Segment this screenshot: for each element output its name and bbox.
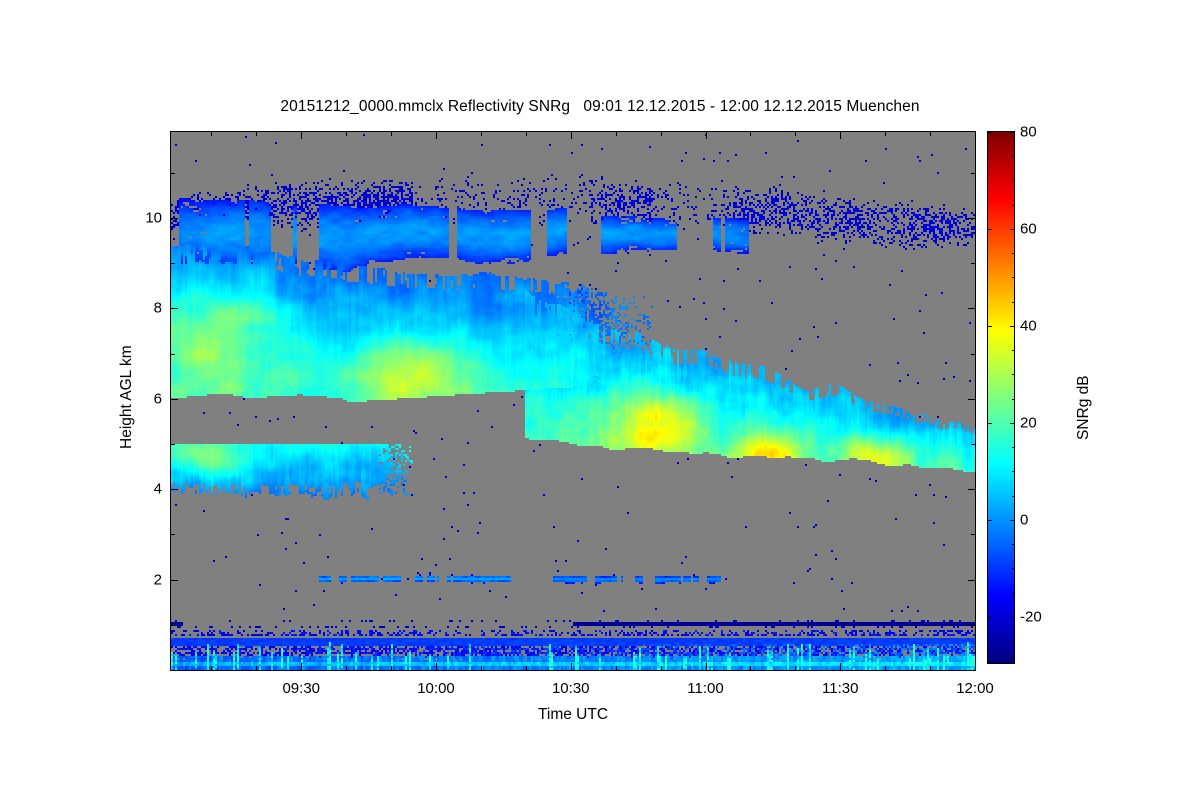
x-tick-minor [346,666,347,671]
y-tick-label: 8 [122,300,162,317]
y-tick-minor-right [971,534,976,535]
colorbar-tick-minor [1012,205,1015,206]
x-tick-minor [661,666,662,671]
y-tick-label: 2 [122,571,162,588]
y-tick-minor [170,354,175,355]
y-tick-minor [170,444,175,445]
colorbar-tick-minor [1012,568,1015,569]
colorbar-tick-minor [1012,471,1015,472]
reflectivity-field [171,132,975,670]
plot-title: 20151212_0000.mmclx Reflectivity SNRg 09… [0,98,1200,116]
x-tick-major-top [571,131,572,139]
x-tick-minor [885,666,886,671]
colorbar-tick [1010,423,1015,424]
y-tick-minor [170,263,175,264]
y-tick-minor-right [971,354,976,355]
colorbar-tick [1010,132,1015,133]
colorbar-tick-minor [1012,302,1015,303]
colorbar-tick-minor [1012,374,1015,375]
colorbar-tick-minor [1012,447,1015,448]
y-tick-minor-right [971,263,976,264]
colorbar-gradient [988,132,1014,663]
x-tick-major [840,663,841,671]
x-tick-major-top [436,131,437,139]
x-tick-major [436,663,437,671]
x-tick-major-top [975,131,976,139]
y-tick-minor [170,625,175,626]
colorbar-tick-minor [1012,277,1015,278]
colorbar-tick-label: 0 [1020,511,1028,528]
colorbar-tick-minor [1012,641,1015,642]
x-axis-title: Time UTC [473,706,673,724]
colorbar-tick-label: 60 [1020,220,1037,237]
colorbar-tick-label: 40 [1020,317,1037,334]
x-tick-minor [795,666,796,671]
colorbar-tick-left [987,520,992,521]
y-tick-minor [170,173,175,174]
x-tick-major [301,663,302,671]
x-tick-major-top [706,131,707,139]
x-tick-minor-top [750,131,751,136]
colorbar-tick [1010,229,1015,230]
y-tick-major [170,489,178,490]
colorbar-tick-minor [1012,496,1015,497]
x-tick-minor [616,666,617,671]
y-tick-label: 4 [122,481,162,498]
x-tick-minor-top [616,131,617,136]
x-tick-minor [526,666,527,671]
x-tick-major [571,663,572,671]
x-tick-minor [256,666,257,671]
x-tick-minor-top [481,131,482,136]
colorbar-tick [1010,520,1015,521]
x-tick-minor-top [661,131,662,136]
x-tick-minor-top [885,131,886,136]
x-tick-minor-top [795,131,796,136]
figure-canvas: 20151212_0000.mmclx Reflectivity SNRg 09… [0,0,1200,800]
x-tick-major-top [840,131,841,139]
y-tick-minor [170,534,175,535]
colorbar-tick-minor [1012,253,1015,254]
x-tick-minor-top [930,131,931,136]
colorbar-tick-minor [1012,399,1015,400]
y-tick-label: 10 [122,209,162,226]
colorbar-tick [1010,326,1015,327]
x-tick-minor [750,666,751,671]
x-tick-label: 10:30 [531,680,611,697]
colorbar-tick-minor [1012,350,1015,351]
colorbar-tick-label: 20 [1020,414,1037,431]
y-tick-major [170,218,178,219]
y-tick-major-right [968,218,976,219]
y-tick-major [170,308,178,309]
colorbar-tick-left [987,229,992,230]
x-tick-minor-top [211,131,212,136]
x-tick-minor-top [256,131,257,136]
x-tick-minor [481,666,482,671]
colorbar-tick-minor [1012,180,1015,181]
colorbar-tick-minor [1012,156,1015,157]
x-tick-label: 11:00 [666,680,746,697]
colorbar-tick-label: 80 [1020,124,1037,141]
colorbar-title: SNRg dB [1075,375,1093,440]
x-tick-minor [930,666,931,671]
colorbar-tick-left [987,132,992,133]
colorbar [987,131,1015,664]
x-tick-label: 11:30 [800,680,880,697]
x-tick-major-top [301,131,302,139]
y-tick-major-right [968,489,976,490]
x-tick-minor-top [526,131,527,136]
y-tick-major-right [968,308,976,309]
colorbar-tick-label: -20 [1020,608,1042,625]
y-tick-major [170,399,178,400]
x-tick-label: 12:00 [935,680,1015,697]
x-tick-minor-top [346,131,347,136]
colorbar-tick-left [987,326,992,327]
x-tick-minor [391,666,392,671]
y-axis-title: Height AGL km [118,345,136,449]
colorbar-tick-left [987,423,992,424]
x-tick-label: 09:30 [261,680,341,697]
y-tick-major [170,580,178,581]
x-tick-major [706,663,707,671]
colorbar-tick-minor [1012,593,1015,594]
y-tick-major-right [968,399,976,400]
reflectivity-heatmap-axes [170,131,976,671]
colorbar-tick-left [987,617,992,618]
y-tick-minor-right [971,173,976,174]
y-tick-minor-right [971,625,976,626]
x-tick-minor-top [391,131,392,136]
x-tick-minor [211,666,212,671]
y-tick-major-right [968,580,976,581]
x-tick-label: 10:00 [396,680,476,697]
colorbar-tick [1010,617,1015,618]
y-tick-minor-right [971,444,976,445]
colorbar-tick-minor [1012,544,1015,545]
x-tick-major [975,663,976,671]
